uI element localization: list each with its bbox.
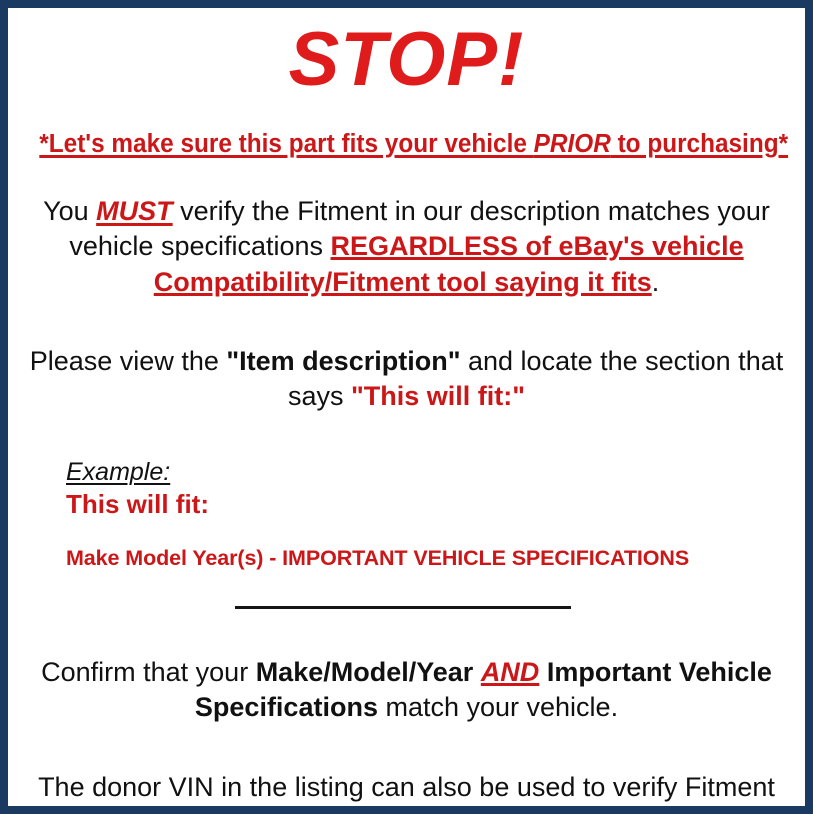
- subtitle-before-italic: *Let's make sure this part fits your veh…: [39, 130, 533, 158]
- confirm-space-1: [473, 657, 481, 687]
- example-block: Example: This will fit: Make Model Year(…: [22, 458, 791, 571]
- subtitle-prior-word: PRIOR: [534, 130, 611, 158]
- make-model-year-bold: Make/Model/Year: [256, 657, 474, 687]
- must-seg3: .: [652, 267, 660, 297]
- divider-wrap: [22, 601, 791, 615]
- must-paragraph: You MUST verify the Fitment in our descr…: [22, 194, 791, 299]
- confirm-paragraph: Confirm that your Make/Model/Year AND Im…: [22, 655, 791, 725]
- notice-inner: STOP! *Let's make sure this part fits yo…: [8, 22, 805, 814]
- subtitle-line: *Let's make sure this part fits your veh…: [39, 130, 773, 159]
- confirm-seg1: Confirm that your: [41, 657, 256, 687]
- view-description-paragraph: Please view the "Item description" and l…: [22, 344, 791, 414]
- horizontal-divider: [235, 606, 571, 609]
- confirm-space-2: [539, 657, 547, 687]
- confirm-seg2: match your vehicle.: [378, 692, 618, 722]
- example-this-will-fit: This will fit:: [66, 489, 791, 520]
- and-emphasis: AND: [481, 657, 540, 687]
- must-emphasis: MUST: [96, 196, 173, 226]
- subtitle-underlined: *Let's make sure this part fits your veh…: [39, 130, 788, 158]
- fitment-notice-card: STOP! *Let's make sure this part fits yo…: [0, 0, 813, 814]
- example-spec-line: Make Model Year(s) - IMPORTANT VEHICLE S…: [66, 546, 791, 571]
- example-label: Example:: [66, 458, 170, 488]
- this-will-fit-quote: "This will fit:": [351, 381, 525, 411]
- subtitle-after-italic: to purchasing*: [611, 130, 788, 158]
- view-seg1: Please view the: [30, 346, 227, 376]
- stop-headline: STOP!: [22, 22, 791, 98]
- must-seg1: You: [43, 196, 96, 226]
- item-description-quote: "Item description": [226, 346, 460, 376]
- vin-paragraph: The donor VIN in the listing can also be…: [22, 770, 791, 814]
